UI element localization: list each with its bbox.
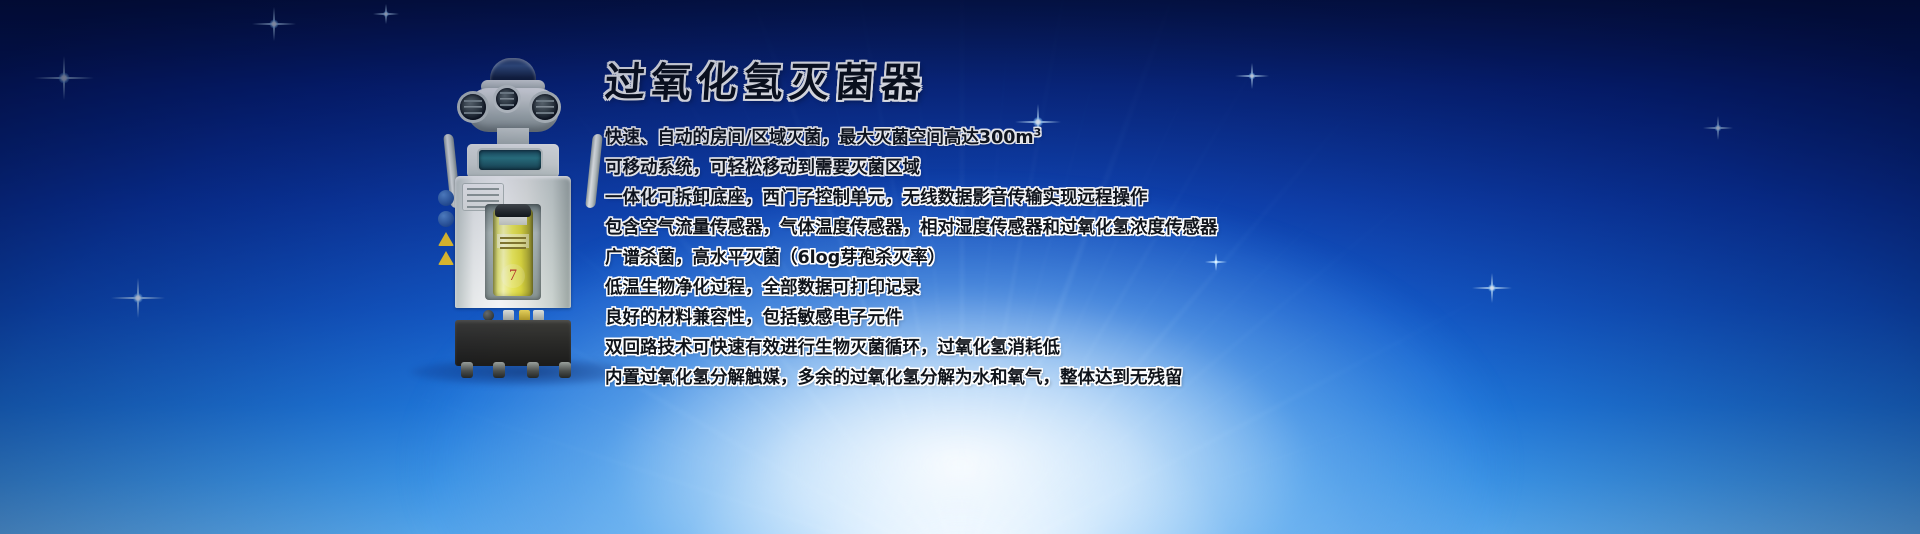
bottle-label — [497, 234, 529, 248]
caster-wheel — [527, 362, 539, 378]
caster-wheel — [493, 362, 505, 378]
list-item: 双回路技术可快速有效进行生物灭菌循环，过氧化氢消耗低 — [605, 333, 1685, 363]
certification-badge-icon — [438, 211, 454, 227]
warning-badges — [438, 190, 456, 270]
list-item: 快速、自动的房间/区域灭菌，最大灭菌空间高达300m3 — [605, 118, 1685, 153]
product-banner: 7 过氧化氢灭菌器 快速、自动的房间/区域灭菌，最大灭菌空间高达300m3 可移… — [0, 0, 1920, 534]
list-item: 良好的材料兼容性，包括敏感电子元件 — [605, 303, 1685, 333]
caster-wheel — [461, 362, 473, 378]
bottle-cap — [495, 204, 531, 217]
feature-text: 广谱杀菌，高水平灭菌（6log芽孢杀灭率） — [605, 248, 945, 268]
feature-superscript: 3 — [1034, 126, 1042, 139]
list-item: 一体化可拆卸底座，西门子控制单元，无线数据影音传输实现远程操作 — [605, 183, 1685, 213]
feature-text: 内置过氧化氢分解触媒，多余的过氧化氢分解为水和氧气，整体达到无残留 — [605, 368, 1183, 388]
bottle-number: 7 — [501, 264, 525, 288]
base-module — [455, 320, 571, 366]
feature-text: 一体化可拆卸底座，西门子控制单元，无线数据影音传输实现远程操作 — [605, 188, 1148, 208]
biohazard-triangle-icon — [438, 251, 454, 265]
product-image-hydrogen-peroxide-sterilizer: 7 — [433, 58, 613, 378]
feature-text: 双回路技术可快速有效进行生物灭菌循环，过氧化氢消耗低 — [605, 338, 1060, 358]
feature-text: 包含空气流量传感器，气体温度传感器，相对湿度传感器和过氧化氢浓度传感器 — [605, 218, 1218, 238]
feature-text: 快速、自动的房间/区域灭菌，最大灭菌空间高达300m — [605, 128, 1034, 148]
ce-badge-icon — [438, 190, 454, 206]
nozzle-center-icon — [496, 88, 518, 110]
feature-text: 良好的材料兼容性，包括敏感电子元件 — [605, 308, 903, 328]
handle-right — [585, 134, 603, 208]
list-item: 低温生物净化过程，全部数据可打印记录 — [605, 273, 1685, 303]
feature-text: 低温生物净化过程，全部数据可打印记录 — [605, 278, 920, 298]
list-item: 可移动系统，可轻松移动到需要灭菌区域 — [605, 153, 1685, 183]
list-item: 内置过氧化氢分解触媒，多余的过氧化氢分解为水和氧气，整体达到无残留 — [605, 363, 1685, 393]
caster-wheel — [559, 362, 571, 378]
warning-triangle-icon — [438, 232, 454, 246]
list-item: 包含空气流量传感器，气体温度传感器，相对湿度传感器和过氧化氢浓度传感器 — [605, 213, 1685, 243]
copy-block: 过氧化氢灭菌器 快速、自动的房间/区域灭菌，最大灭菌空间高达300m3 可移动系… — [605, 62, 1685, 393]
display-screen — [479, 150, 541, 170]
list-item: 广谱杀菌，高水平灭菌（6log芽孢杀灭率） — [605, 243, 1685, 273]
nozzle-right-icon — [532, 94, 558, 120]
feature-list: 快速、自动的房间/区域灭菌，最大灭菌空间高达300m3 可移动系统，可轻松移动到… — [605, 118, 1685, 393]
nozzle-left-icon — [460, 94, 486, 120]
feature-text: 可移动系统，可轻松移动到需要灭菌区域 — [605, 158, 920, 178]
page-title: 过氧化氢灭菌器 — [604, 62, 1687, 104]
